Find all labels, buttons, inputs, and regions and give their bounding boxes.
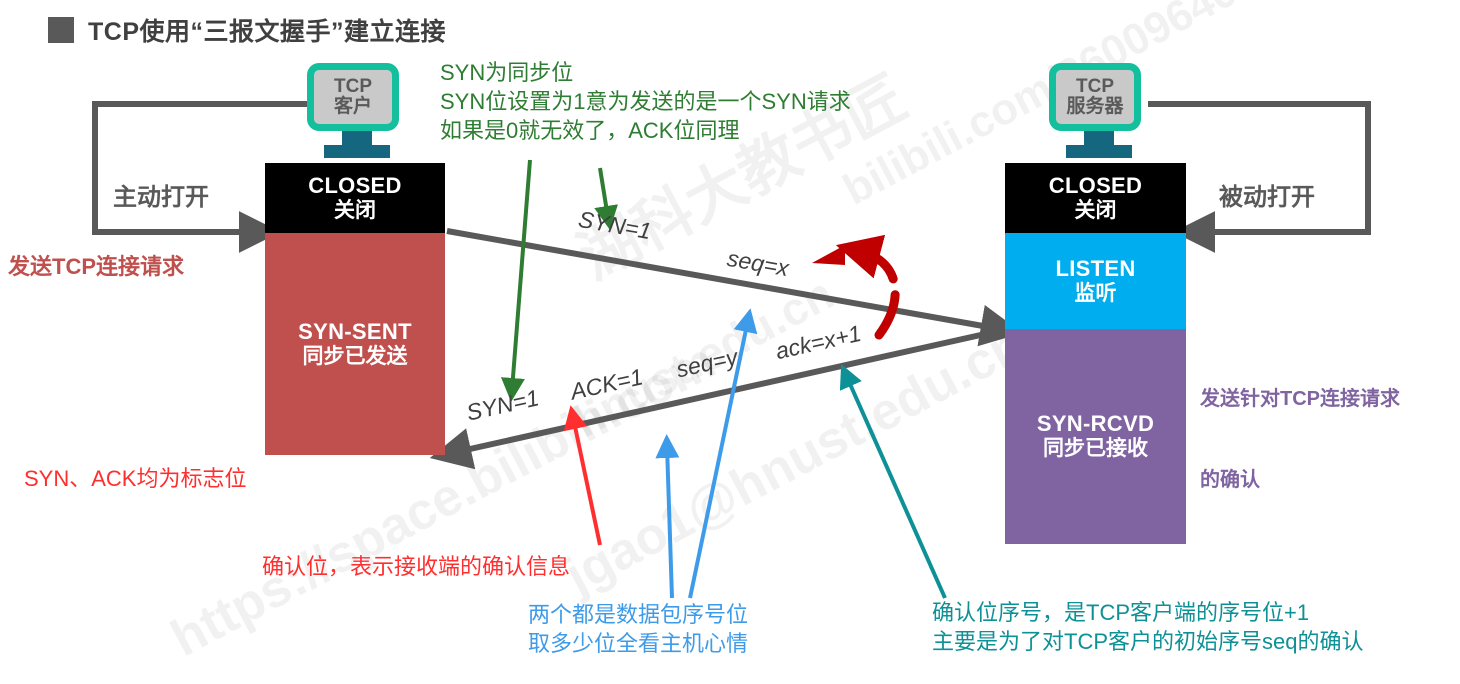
client-icon-line1: TCP xyxy=(334,77,372,97)
client-screen: TCP 客户 xyxy=(307,63,399,131)
passive-open-label: 被动打开 xyxy=(1219,182,1315,214)
teal-pointer-ack xyxy=(846,375,945,598)
red-pointer-ack xyxy=(573,417,600,545)
annotation-red-ack: 确认位，表示接收端的确认信息 xyxy=(262,552,570,581)
slide-canvas: 湖科大教书匠 hnust.edu.cn bilibili.com/3600964… xyxy=(0,0,1460,684)
server-icon-line2: 服务器 xyxy=(1066,97,1123,117)
client-state-closed: CLOSED 关闭 xyxy=(265,163,445,233)
blue-pointer-seqy xyxy=(667,446,672,598)
server-state-synrcvd-en: SYN-RCVD xyxy=(1037,412,1154,437)
client-state-stack: CLOSED 关闭 SYN-SENT 同步已发送 xyxy=(265,163,445,455)
client-state-closed-en: CLOSED xyxy=(308,174,401,199)
server-ack-label: 发送针对TCP连接请求 的确认 xyxy=(1200,332,1400,548)
turnaround-arrowhead-icon xyxy=(812,245,845,265)
annotation-green-syn: SYN为同步位 SYN位设置为1意为发送的是一个SYN请求 如果是0就无效了，A… xyxy=(440,58,851,145)
server-icon-line1: TCP xyxy=(1076,77,1114,97)
client-computer-icon: TCP 客户 xyxy=(307,63,407,158)
green-pointer-2 xyxy=(512,160,530,390)
client-state-closed-cn: 关闭 xyxy=(334,199,376,223)
monitor-base-icon xyxy=(1066,145,1132,158)
turnaround-curve-icon xyxy=(862,252,895,335)
server-ack-label-line2: 的确认 xyxy=(1200,467,1400,494)
annotation-red-flags: SYN、ACK均为标志位 xyxy=(24,464,246,493)
server-screen: TCP 服务器 xyxy=(1049,63,1141,131)
server-state-closed-cn: 关闭 xyxy=(1075,199,1117,223)
monitor-neck-icon xyxy=(342,131,372,145)
annotation-blue-seq: 两个都是数据包序号位 取多少位全看主机心情 xyxy=(528,600,748,658)
server-state-stack: CLOSED 关闭 LISTEN 监听 SYN-RCVD 同步已接收 xyxy=(1005,163,1186,544)
server-ack-label-line1: 发送针对TCP连接请求 xyxy=(1200,386,1400,413)
server-state-synrcvd-cn: 同步已接收 xyxy=(1043,437,1148,461)
server-computer-icon: TCP 服务器 xyxy=(1049,63,1149,158)
monitor-neck-icon xyxy=(1084,131,1114,145)
send-tcp-request-label: 发送TCP连接请求 xyxy=(8,252,184,281)
server-state-closed: CLOSED 关闭 xyxy=(1005,163,1186,233)
server-state-synrcvd: SYN-RCVD 同步已接收 xyxy=(1005,329,1186,544)
server-state-closed-en: CLOSED xyxy=(1049,174,1142,199)
server-state-listen-en: LISTEN xyxy=(1055,257,1135,282)
client-state-synsent-en: SYN-SENT xyxy=(298,320,412,345)
monitor-base-icon xyxy=(324,145,390,158)
server-state-listen-cn: 监听 xyxy=(1075,282,1117,306)
active-open-label: 主动打开 xyxy=(113,182,209,214)
client-state-synsent-cn: 同步已发送 xyxy=(303,345,408,369)
client-state-synsent: SYN-SENT 同步已发送 xyxy=(265,233,445,455)
annotation-teal-ack: 确认位序号，是TCP客户端的序号位+1 主要是为了对TCP客户的初始序号seq的… xyxy=(932,598,1363,656)
server-state-listen: LISTEN 监听 xyxy=(1005,233,1186,329)
message-arrow-1 xyxy=(447,231,1000,329)
client-icon-line2: 客户 xyxy=(334,97,372,117)
